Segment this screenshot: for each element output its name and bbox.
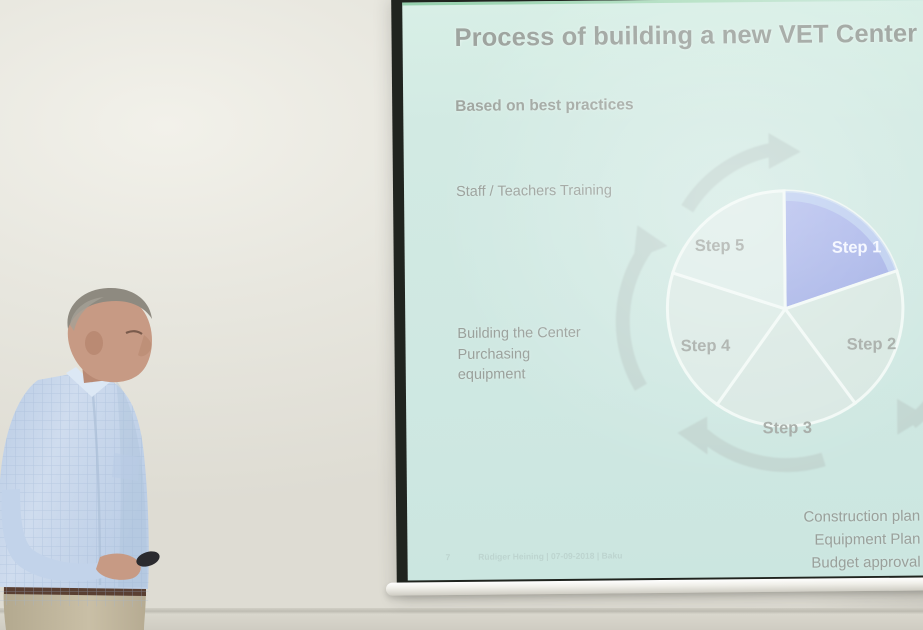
presenter-svg xyxy=(0,285,218,630)
pie-label-step-3: Step 3 xyxy=(762,419,812,437)
annotation-staff-training: Staff / Teachers Training xyxy=(456,180,612,202)
annotation-staff-training-text: Staff / Teachers Training xyxy=(456,182,612,199)
annotation-building-center: Building the Center Purchasing equipment xyxy=(457,323,581,386)
process-wheel-diagram: Step 1 Step 2 Step 3 Step 4 Step 5 xyxy=(608,122,923,475)
annotation-building-center-text: Building the Center Purchasing equipment xyxy=(457,325,580,383)
annotation-construction-plan-text: Construction plan Equipment Plan Budget … xyxy=(803,508,920,572)
pie-label-step-2: Step 2 xyxy=(847,335,897,353)
projection-screen-surface: Process of building a new VET Center Bas… xyxy=(402,0,923,580)
slide-page-number: 7 xyxy=(445,552,450,562)
projection-screen: Process of building a new VET Center Bas… xyxy=(391,0,923,595)
rotation-arrow-left xyxy=(622,225,669,387)
slide-subtitle: Based on best practices xyxy=(455,96,633,116)
presentation-slide: Process of building a new VET Center Bas… xyxy=(402,0,923,580)
presenter-ear xyxy=(85,331,103,355)
slide-credit: Rüdiger Heining | 07-09-2018 | Baku xyxy=(478,550,622,561)
slide-footer: 7 Rüdiger Heining | 07-09-2018 | Baku xyxy=(445,550,622,562)
pie-label-step-1: Step 1 xyxy=(832,238,882,256)
room-scene: Process of building a new VET Center Bas… xyxy=(0,0,923,630)
presenter-shirt-pocket xyxy=(112,453,140,481)
presenter-figure xyxy=(0,285,218,630)
pie-label-step-4: Step 4 xyxy=(681,337,732,355)
annotation-construction-plan: Construction plan Equipment Plan Budget … xyxy=(803,506,920,576)
process-wheel-svg: Step 1 Step 2 Step 3 Step 4 Step 5 xyxy=(608,122,923,475)
page-title: Process of building a new VET Center xyxy=(454,20,917,53)
pie-segments-group xyxy=(666,190,904,428)
pie-label-step-5: Step 5 xyxy=(695,237,745,255)
